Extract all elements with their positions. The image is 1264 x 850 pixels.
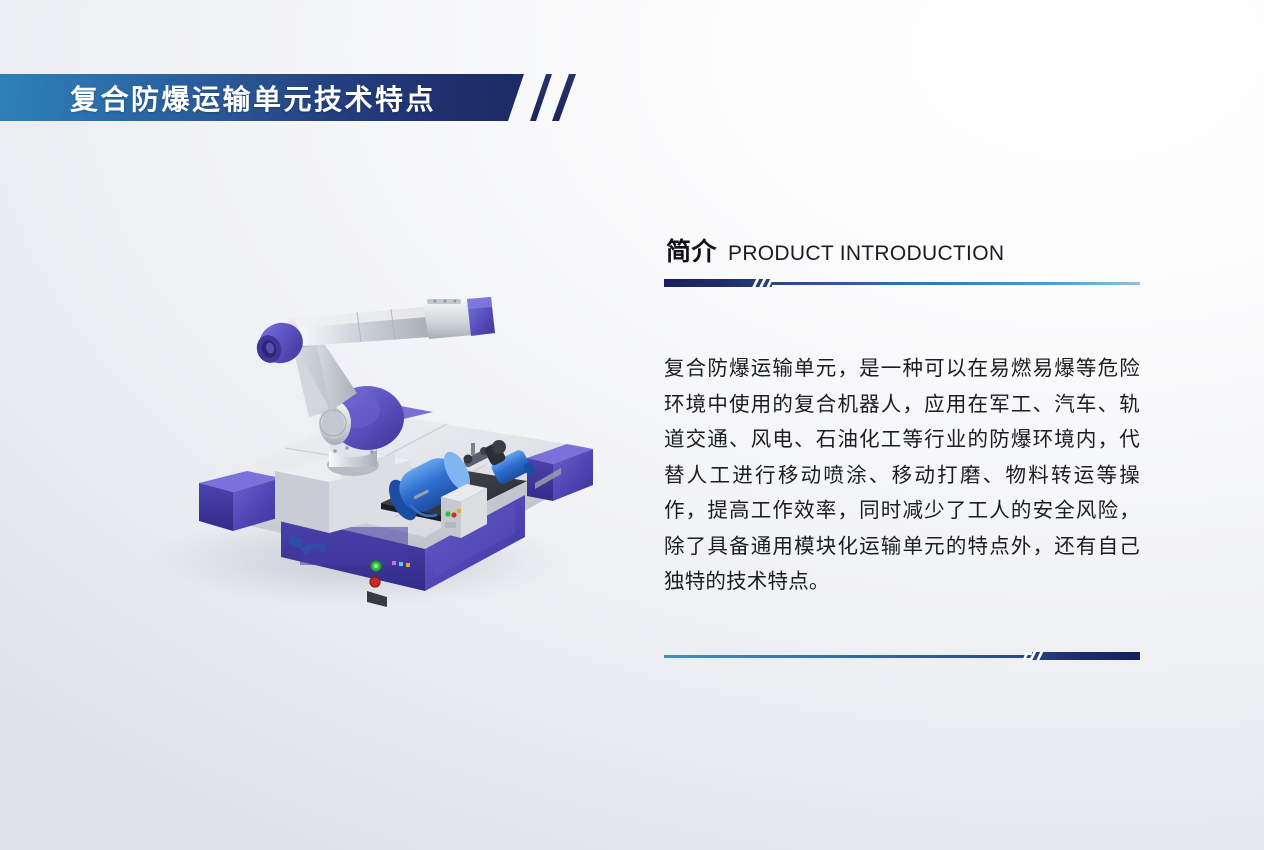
section-heading-cn: 简介: [666, 232, 717, 268]
content-column: 简介 PRODUCT INTRODUCTION 复合防爆运输单元，是一种可以在易…: [664, 232, 1140, 662]
indicator-red: [451, 512, 456, 517]
robot-wrist: [423, 299, 473, 339]
divider-thin-line: [664, 655, 1036, 658]
robot-end-effector: [467, 297, 495, 336]
indicator-yellow: [457, 509, 462, 514]
title-banner: 复合防爆运输单元技术特点: [0, 74, 600, 121]
footer-divider: [664, 650, 1140, 662]
page-title: 复合防爆运输单元技术特点: [0, 74, 524, 121]
section-heading-en: PRODUCT INTRODUCTION: [728, 242, 1004, 266]
banner-slash-icon-1: [530, 74, 552, 121]
divider-slash-icon: [752, 279, 782, 287]
emergency-stop-red: [370, 577, 380, 587]
slide-page: 复合防爆运输单元技术特点: [0, 0, 1264, 850]
divider-thin-line: [768, 282, 1140, 285]
product-illustration: [95, 215, 615, 645]
product-description: 复合防爆运输单元，是一种可以在易燃易爆等危险环境中使用的复合机器人，应用在军工、…: [664, 351, 1140, 600]
banner-slash-icon-2: [552, 74, 576, 121]
divider-slash-icon: [1022, 652, 1052, 660]
heading-divider: [664, 277, 1140, 289]
section-heading: 简介 PRODUCT INTRODUCTION: [664, 232, 1140, 268]
indicator-green: [445, 511, 450, 516]
product-image: [95, 215, 615, 645]
